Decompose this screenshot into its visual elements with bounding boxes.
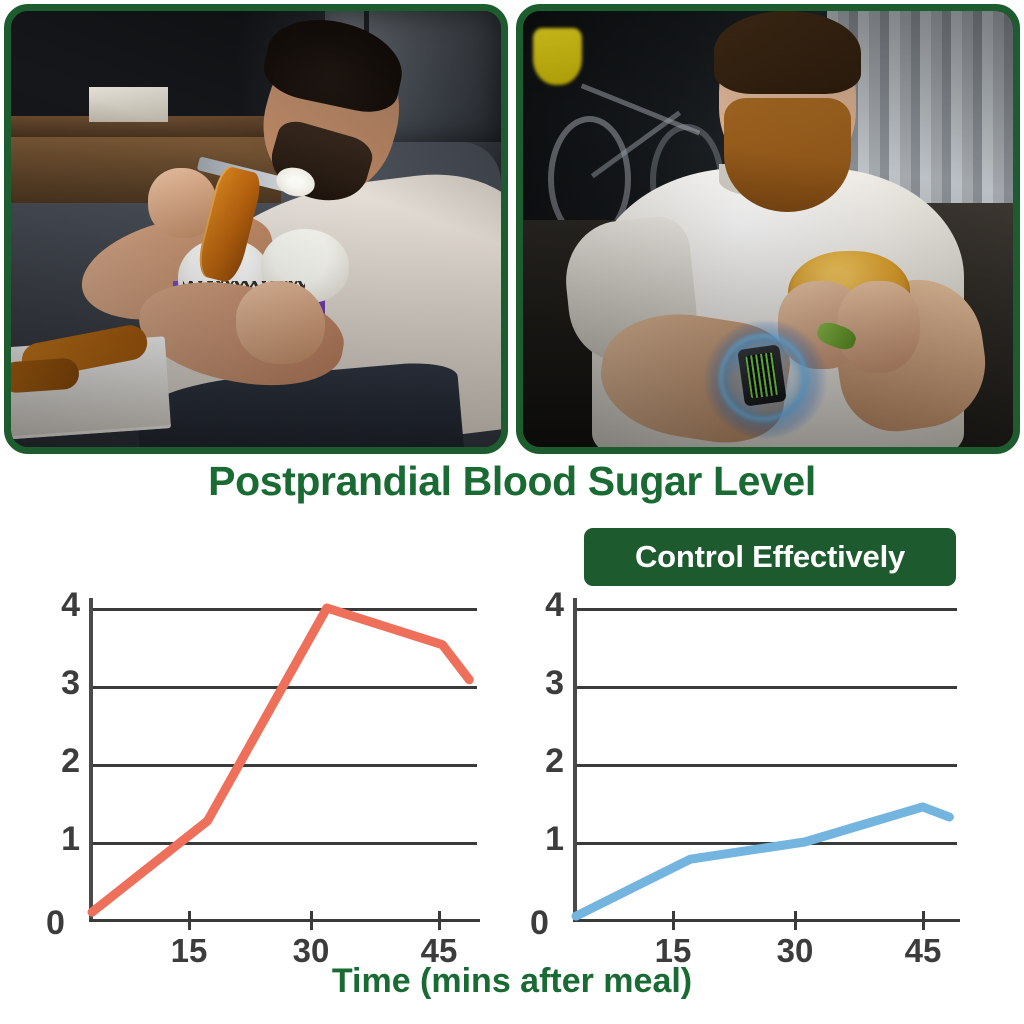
controlled-series-line	[576, 608, 957, 920]
uncontrolled-plot-area: 4 3 2 1 0 15 30 45	[92, 608, 477, 920]
after-photo	[516, 4, 1020, 454]
before-photo	[4, 4, 508, 454]
y-tick-4: 4	[545, 586, 564, 625]
infographic-page: Postprandial Blood Sugar Level Control E…	[0, 0, 1024, 1024]
controlled-blood-sugar-chart: 4 3 2 1 0 15 30 45	[512, 580, 1024, 940]
after-photo-vignette	[523, 11, 1013, 447]
y-tick-0: 0	[530, 904, 549, 943]
control-effectively-badge: Control Effectively	[584, 528, 956, 586]
before-photo-content	[11, 11, 501, 447]
page-title: Postprandial Blood Sugar Level	[0, 458, 1024, 505]
photo-row	[0, 4, 1024, 454]
y-tick-4: 4	[61, 586, 80, 625]
uncontrolled-blood-sugar-chart: 4 3 2 1 0 15 30 45 Blood Glucose (mN)	[0, 580, 512, 940]
before-photo-vignette	[11, 11, 501, 447]
y-tick-1: 1	[545, 820, 564, 859]
y-tick-3: 3	[545, 664, 564, 703]
y-tick-2: 2	[61, 742, 80, 781]
after-photo-content	[523, 11, 1013, 447]
y-tick-3: 3	[61, 664, 80, 703]
y-tick-1: 1	[61, 820, 80, 859]
y-tick-0: 0	[46, 904, 65, 943]
y-tick-2: 2	[545, 742, 564, 781]
x-axis-label: Time (mins after meal)	[0, 962, 1024, 1001]
y-axis-label: Blood Glucose (mN)	[1, 1019, 49, 1024]
uncontrolled-series-line	[92, 608, 477, 920]
controlled-plot-area: 4 3 2 1 0 15 30 45	[576, 608, 957, 920]
